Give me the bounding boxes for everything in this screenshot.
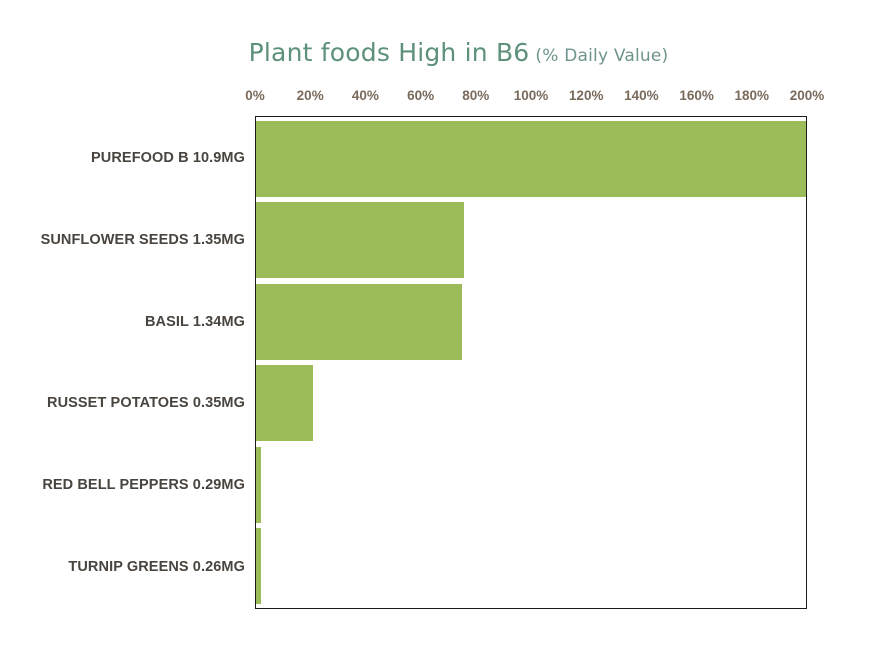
bar[interactable] <box>256 365 313 441</box>
chart-title-subtitle: (% Daily Value) <box>535 46 668 66</box>
x-tick-label: 180% <box>735 88 770 103</box>
category-label: SUNFLOWER SEEDS 1.35MG <box>41 232 245 248</box>
category-label: RUSSET POTATOES 0.35MG <box>47 395 245 411</box>
x-tick-label: 140% <box>624 88 659 103</box>
x-tick-label: 100% <box>514 88 549 103</box>
category-label: BASIL 1.34MG <box>145 314 245 330</box>
bar-row <box>256 528 806 604</box>
bar[interactable] <box>256 528 261 604</box>
chart-title-main: Plant foods High in B6 <box>249 38 530 67</box>
x-tick-label: 80% <box>462 88 489 103</box>
category-label-row: PUREFOOD B 10.9MG <box>0 120 245 196</box>
x-tick-label: 160% <box>679 88 714 103</box>
category-label: PUREFOOD B 10.9MG <box>91 150 245 166</box>
category-label-row: SUNFLOWER SEEDS 1.35MG <box>0 202 245 278</box>
bar-row <box>256 365 806 441</box>
category-label-row: TURNIP GREENS 0.26MG <box>0 529 245 605</box>
category-label-row: BASIL 1.34MG <box>0 284 245 360</box>
bar[interactable] <box>256 202 464 278</box>
page-title: Plant foods High in B6(% Daily Value) <box>0 38 869 67</box>
bar-row <box>256 447 806 523</box>
bar[interactable] <box>256 121 806 197</box>
x-tick-label: 200% <box>790 88 825 103</box>
category-label: RED BELL PEPPERS 0.29MG <box>42 477 245 493</box>
bar[interactable] <box>256 447 261 523</box>
bar-series <box>256 117 806 608</box>
category-label-row: RUSSET POTATOES 0.35MG <box>0 365 245 441</box>
x-tick-label: 0% <box>245 88 265 103</box>
bar-row <box>256 284 806 360</box>
x-tick-label: 40% <box>352 88 379 103</box>
bar-row <box>256 202 806 278</box>
x-axis-tick-labels: 0%20%40%60%80%100%120%140%160%180%200% <box>255 88 807 106</box>
category-label: TURNIP GREENS 0.26MG <box>68 559 245 575</box>
category-label-row: RED BELL PEPPERS 0.29MG <box>0 447 245 523</box>
bar[interactable] <box>256 284 462 360</box>
plot-area <box>255 116 807 609</box>
x-tick-label: 60% <box>407 88 434 103</box>
y-axis-category-labels: PUREFOOD B 10.9MGSUNFLOWER SEEDS 1.35MGB… <box>0 116 245 609</box>
bar-row <box>256 121 806 197</box>
x-tick-label: 20% <box>297 88 324 103</box>
x-tick-label: 120% <box>569 88 604 103</box>
